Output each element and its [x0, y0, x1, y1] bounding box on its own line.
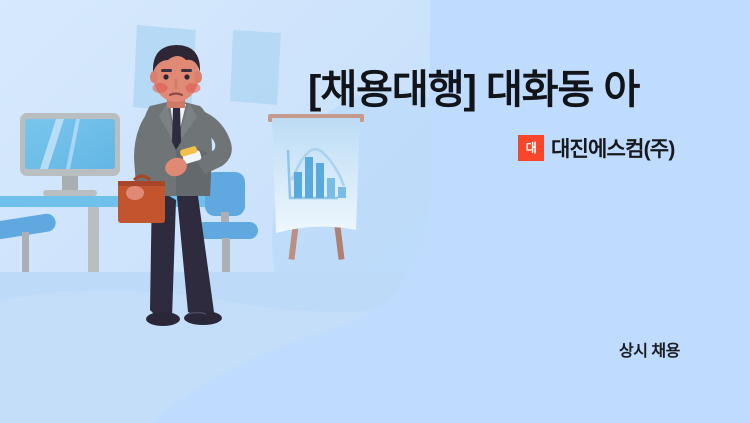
necktie	[172, 106, 181, 150]
company-name[interactable]: 대진에스컴(주)	[551, 133, 675, 163]
left-shoe	[146, 312, 180, 326]
hiring-type-label: 상시 채용	[619, 337, 680, 361]
company-row[interactable]: 대 대진에스컴(주)	[518, 133, 675, 163]
page-title: [채용대행] 대화동 아	[308, 68, 750, 112]
briefcase	[118, 176, 165, 223]
office-illustration	[0, 0, 430, 423]
wall-poster-2	[230, 30, 281, 105]
company-logo-badge: 대	[518, 135, 544, 161]
job-posting-banner: [채용대행] 대화동 아 대 대진에스컴(주) 상시 채용	[0, 0, 750, 423]
